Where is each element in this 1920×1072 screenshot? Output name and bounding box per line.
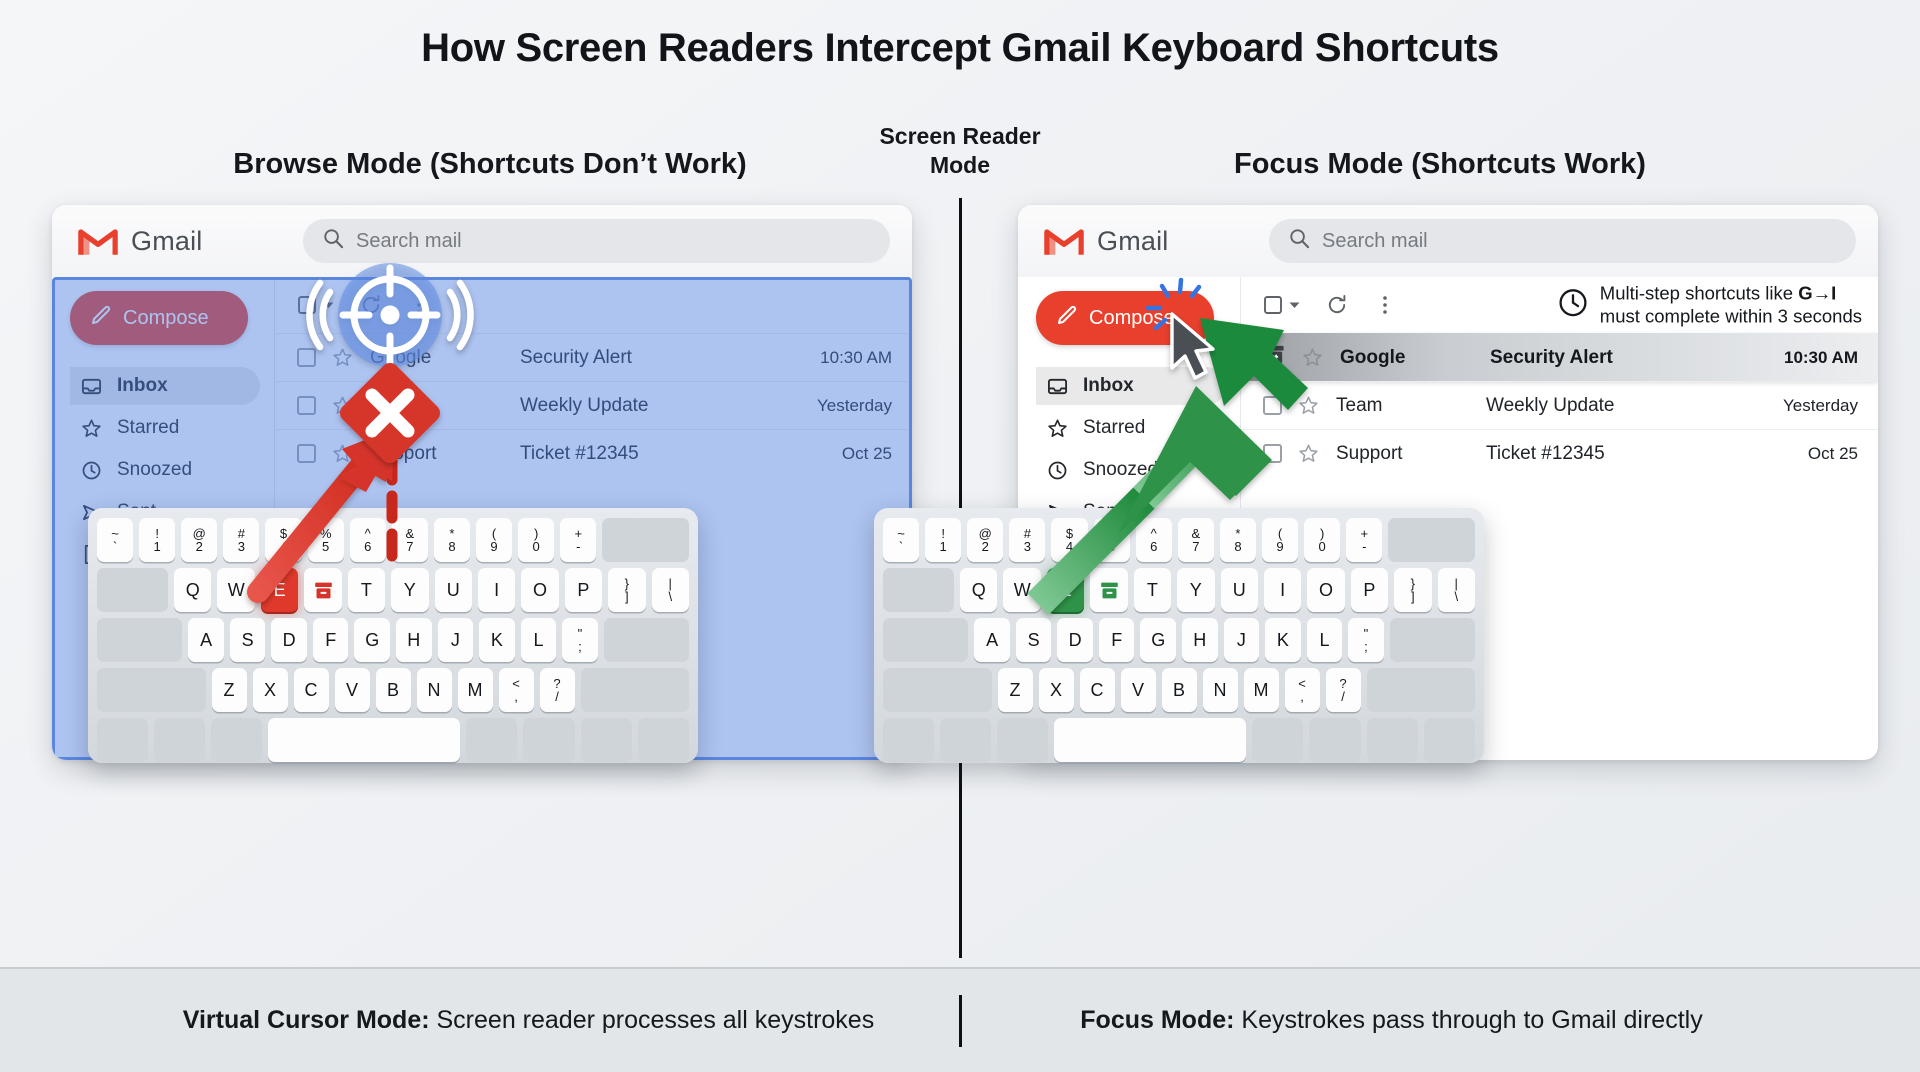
- key-z[interactable]: Z: [212, 668, 247, 712]
- key-0[interactable]: )0: [518, 518, 554, 562]
- search-input-right[interactable]: Search mail: [1269, 219, 1856, 263]
- refresh-icon[interactable]: [1326, 294, 1348, 316]
- key-j[interactable]: J: [438, 618, 474, 662]
- key-4[interactable]: $4: [1051, 518, 1087, 562]
- search-input-left[interactable]: Search mail: [303, 219, 890, 263]
- inbox-icon: [1047, 376, 1068, 397]
- key-c[interactable]: C: [1080, 668, 1115, 712]
- select-all-checkbox-left[interactable]: [297, 295, 334, 315]
- multi-step-shortcut-tooltip: Multi-step shortcuts like G→I must compl…: [1558, 282, 1862, 329]
- key-t[interactable]: T: [1134, 568, 1171, 612]
- star-icon[interactable]: [1298, 443, 1319, 464]
- star-icon: [1047, 418, 1068, 439]
- key-l[interactable]: L: [521, 618, 557, 662]
- row-checkbox[interactable]: [297, 396, 316, 415]
- key-5[interactable]: %5: [1094, 518, 1130, 562]
- table-row[interactable]: Google Security Alert 10:30 AM: [1241, 333, 1878, 381]
- key-shift-right[interactable]: [1367, 668, 1476, 712]
- gmail-logo-left: Gmail: [78, 226, 303, 257]
- center-mode-line1: Screen Reader: [830, 122, 1090, 151]
- key-o[interactable]: O: [521, 568, 558, 612]
- more-options-icon[interactable]: [1374, 294, 1396, 316]
- sidebar-label: Snoozed: [117, 459, 192, 481]
- key-capslock[interactable]: [883, 618, 968, 662]
- sidebar-item-starred-left[interactable]: Starred: [70, 409, 260, 447]
- more-options-icon[interactable]: [408, 294, 430, 316]
- key-q[interactable]: Q: [960, 568, 997, 612]
- key-slash[interactable]: ?/: [1326, 668, 1361, 712]
- key-comma[interactable]: <,: [1285, 668, 1320, 712]
- key-c[interactable]: C: [294, 668, 329, 712]
- key-n[interactable]: N: [1203, 668, 1238, 712]
- search-placeholder-left: Search mail: [356, 230, 462, 253]
- table-row[interactable]: Google Security Alert 10:30 AM: [275, 333, 912, 381]
- chevron-down-icon: [323, 301, 334, 310]
- key-semicolon[interactable]: ";: [562, 618, 598, 662]
- key-e-highlighted[interactable]: E: [1047, 568, 1084, 612]
- key-shift-left[interactable]: [97, 668, 206, 712]
- row-sender: Support: [1336, 443, 1486, 465]
- key-g[interactable]: G: [1140, 618, 1176, 662]
- sidebar-item-starred-right[interactable]: Starred: [1036, 409, 1226, 447]
- keyboard-row-home: A S D F G H J K L ";: [883, 618, 1475, 662]
- key-cmd-right[interactable]: [466, 718, 517, 762]
- key-9[interactable]: (9: [1262, 518, 1298, 562]
- row-subject: Weekly Update: [1486, 395, 1783, 417]
- row-time: 10:30 AM: [820, 348, 892, 368]
- key-3[interactable]: #3: [1009, 518, 1045, 562]
- pencil-icon: [1056, 304, 1078, 332]
- key-d[interactable]: D: [1057, 618, 1093, 662]
- keyboard-row-bottom: Z X C V B N M <, ?/: [97, 668, 689, 712]
- page-title: How Screen Readers Intercept Gmail Keybo…: [0, 26, 1920, 71]
- star-icon: [81, 418, 102, 439]
- key-option-right[interactable]: [1309, 718, 1360, 762]
- keyboard-row-qwerty: Q W E T Y U I O P }] |\: [883, 568, 1475, 612]
- key-r-archive-icon[interactable]: [1090, 568, 1127, 612]
- key-shift-right[interactable]: [581, 668, 690, 712]
- key-e-highlighted[interactable]: E: [261, 568, 298, 612]
- star-icon[interactable]: [1298, 395, 1319, 416]
- key-u[interactable]: U: [435, 568, 472, 612]
- footer-left-text: Screen reader processes all keystrokes: [430, 1006, 875, 1034]
- key-tilde[interactable]: ~`: [97, 518, 133, 562]
- key-bracket-right[interactable]: }]: [1394, 568, 1431, 612]
- row-subject: Ticket #12345: [520, 443, 842, 465]
- key-arrows[interactable]: [638, 718, 689, 762]
- key-minus[interactable]: +-: [560, 518, 596, 562]
- row-sender: Team: [370, 395, 520, 417]
- key-enter[interactable]: [604, 618, 689, 662]
- keyboard-row-bottom: Z X C V B N M <, ?/: [883, 668, 1475, 712]
- footer-captions: Virtual Cursor Mode: Screen reader proce…: [0, 967, 1920, 1072]
- row-subject: Weekly Update: [520, 395, 817, 417]
- key-2[interactable]: @2: [181, 518, 217, 562]
- key-semicolon[interactable]: ";: [1348, 618, 1384, 662]
- star-icon[interactable]: [1302, 347, 1323, 368]
- key-comma[interactable]: <,: [499, 668, 534, 712]
- gmail-header-left: Gmail Search mail: [52, 205, 912, 277]
- center-mode-line2: Mode: [830, 151, 1090, 180]
- row-checkbox[interactable]: [297, 348, 316, 367]
- sidebar-label: Starred: [1083, 417, 1145, 439]
- row-sender: Team: [1336, 395, 1486, 417]
- key-cmd-right[interactable]: [1252, 718, 1303, 762]
- key-0[interactable]: )0: [1304, 518, 1340, 562]
- key-capslock[interactable]: [97, 618, 182, 662]
- key-arrows[interactable]: [1424, 718, 1475, 762]
- key-l[interactable]: L: [1307, 618, 1343, 662]
- row-time: Yesterday: [817, 396, 892, 416]
- chevron-down-icon: [1289, 301, 1300, 310]
- key-fn[interactable]: [1367, 718, 1418, 762]
- row-subject: Security Alert: [520, 347, 820, 369]
- key-p[interactable]: P: [1351, 568, 1388, 612]
- search-icon: [1289, 228, 1310, 254]
- key-7[interactable]: &7: [392, 518, 428, 562]
- gmail-m-icon: [78, 226, 118, 256]
- key-m[interactable]: M: [1244, 668, 1279, 712]
- sidebar-label: Starred: [117, 417, 179, 439]
- key-minus[interactable]: +-: [1346, 518, 1382, 562]
- inbox-icon: [81, 376, 102, 397]
- key-enter[interactable]: [1390, 618, 1475, 662]
- row-subject: Ticket #12345: [1486, 443, 1808, 465]
- archive-icon[interactable]: [1263, 343, 1286, 372]
- sidebar-item-snoozed-right[interactable]: Snoozed: [1036, 451, 1226, 489]
- key-j[interactable]: J: [1224, 618, 1260, 662]
- table-row[interactable]: Team Weekly Update Yesterday: [275, 381, 912, 429]
- tooltip-shortcut-key: G→I: [1798, 283, 1836, 304]
- key-7[interactable]: &7: [1178, 518, 1214, 562]
- footer-caption-left: Virtual Cursor Mode: Screen reader proce…: [99, 1006, 959, 1035]
- key-tab[interactable]: [97, 568, 168, 612]
- key-a[interactable]: A: [188, 618, 224, 662]
- compose-button-left[interactable]: Compose: [70, 291, 248, 345]
- key-cmd-left[interactable]: [211, 718, 262, 762]
- tooltip-line1-pre: Multi-step shortcuts like: [1600, 283, 1798, 304]
- gmail-wordmark-right: Gmail: [1097, 226, 1169, 257]
- sidebar-item-inbox-right[interactable]: Inbox: [1036, 367, 1226, 405]
- key-o[interactable]: O: [1307, 568, 1344, 612]
- gmail-m-icon: [1044, 226, 1084, 256]
- row-checkbox[interactable]: [1263, 444, 1282, 463]
- mail-toolbar-left: [275, 277, 912, 333]
- key-backspace[interactable]: [1388, 518, 1475, 562]
- key-5[interactable]: %5: [308, 518, 344, 562]
- gmail-logo-right: Gmail: [1044, 226, 1269, 257]
- tooltip-text: Multi-step shortcuts like G→I must compl…: [1600, 282, 1862, 329]
- row-sender: Support: [370, 443, 520, 465]
- key-h[interactable]: H: [396, 618, 432, 662]
- keyboard-row-space: [97, 718, 689, 762]
- key-option-left[interactable]: [940, 718, 991, 762]
- footer-left-bold: Virtual Cursor Mode:: [183, 1006, 430, 1034]
- key-y[interactable]: Y: [1177, 568, 1214, 612]
- keyboard-row-numbers: ~` !1 @2 #3 $4 %5 ^6 &7 *8 (9 )0 +-: [97, 518, 689, 562]
- sidebar-label: Snoozed: [1083, 459, 1158, 481]
- key-u[interactable]: U: [1221, 568, 1258, 612]
- archive-icon: [1099, 580, 1120, 601]
- key-g[interactable]: G: [354, 618, 390, 662]
- tooltip-line2: must complete within 3 seconds: [1600, 306, 1862, 327]
- keyboard-row-home: A S D F G H J K L ";: [97, 618, 689, 662]
- search-icon: [323, 228, 344, 254]
- row-time: 10:30 AM: [1784, 348, 1858, 368]
- row-checkbox[interactable]: [297, 444, 316, 463]
- key-b[interactable]: B: [1162, 668, 1197, 712]
- mail-toolbar-right: Multi-step shortcuts like G→I must compl…: [1241, 277, 1878, 333]
- table-row[interactable]: Team Weekly Update Yesterday: [1241, 381, 1878, 429]
- key-v[interactable]: V: [1121, 668, 1156, 712]
- key-8[interactable]: *8: [434, 518, 470, 562]
- table-row[interactable]: Support Ticket #12345 Oct 25: [1241, 429, 1878, 477]
- key-space[interactable]: [1054, 718, 1246, 762]
- left-panel-heading: Browse Mode (Shortcuts Don’t Work): [60, 148, 920, 181]
- key-k[interactable]: K: [479, 618, 515, 662]
- clock-icon: [1047, 460, 1068, 481]
- key-ctrl-left[interactable]: [97, 718, 148, 762]
- right-panel-heading: Focus Mode (Shortcuts Work): [1010, 148, 1870, 181]
- key-s[interactable]: S: [230, 618, 266, 662]
- key-s[interactable]: S: [1016, 618, 1052, 662]
- key-i[interactable]: I: [1264, 568, 1301, 612]
- key-z[interactable]: Z: [998, 668, 1033, 712]
- key-ctrl-left[interactable]: [883, 718, 934, 762]
- sidebar-item-inbox-left[interactable]: Inbox: [70, 367, 260, 405]
- key-cmd-left[interactable]: [997, 718, 1048, 762]
- key-t[interactable]: T: [348, 568, 385, 612]
- key-w[interactable]: W: [217, 568, 254, 612]
- row-subject: Security Alert: [1490, 347, 1784, 369]
- key-y[interactable]: Y: [391, 568, 428, 612]
- keyboard-row-space: [883, 718, 1475, 762]
- center-mode-label: Screen Reader Mode: [830, 122, 1090, 181]
- key-f[interactable]: F: [1099, 618, 1135, 662]
- key-option-right[interactable]: [523, 718, 574, 762]
- key-v[interactable]: V: [335, 668, 370, 712]
- key-d[interactable]: D: [271, 618, 307, 662]
- row-sender: Google: [370, 347, 520, 369]
- key-9[interactable]: (9: [476, 518, 512, 562]
- key-f[interactable]: F: [313, 618, 349, 662]
- search-placeholder-right: Search mail: [1322, 230, 1428, 253]
- key-option-left[interactable]: [154, 718, 205, 762]
- key-a[interactable]: A: [974, 618, 1010, 662]
- pencil-icon: [90, 304, 112, 332]
- key-p[interactable]: P: [565, 568, 602, 612]
- key-x[interactable]: X: [1039, 668, 1074, 712]
- key-i[interactable]: I: [478, 568, 515, 612]
- keyboard-focus-mode[interactable]: ~` !1 @2 #3 $4 %5 ^6 &7 *8 (9 )0 +- Q W …: [874, 508, 1484, 763]
- key-4[interactable]: $4: [265, 518, 301, 562]
- compose-label-right: Compose: [1089, 307, 1175, 330]
- star-icon[interactable]: [332, 443, 353, 464]
- key-h[interactable]: H: [1182, 618, 1218, 662]
- key-backslash[interactable]: |\: [652, 568, 689, 612]
- key-x[interactable]: X: [253, 668, 288, 712]
- key-m[interactable]: M: [458, 668, 493, 712]
- select-all-checkbox-right[interactable]: [1263, 295, 1300, 315]
- key-slash[interactable]: ?/: [540, 668, 575, 712]
- archive-icon: [313, 580, 334, 601]
- key-1[interactable]: !1: [139, 518, 175, 562]
- infographic-canvas: How Screen Readers Intercept Gmail Keybo…: [0, 0, 1920, 1072]
- key-8[interactable]: *8: [1220, 518, 1256, 562]
- star-icon[interactable]: [332, 395, 353, 416]
- key-space[interactable]: [268, 718, 460, 762]
- footer-right-bold: Focus Mode:: [1080, 1006, 1234, 1034]
- key-6[interactable]: ^6: [1136, 518, 1172, 562]
- key-q[interactable]: Q: [174, 568, 211, 612]
- key-r-archive-icon[interactable]: [304, 568, 341, 612]
- row-sender: Google: [1340, 347, 1490, 369]
- row-time: Yesterday: [1783, 396, 1858, 416]
- key-1[interactable]: !1: [925, 518, 961, 562]
- key-k[interactable]: K: [1265, 618, 1301, 662]
- compose-button-right[interactable]: Compose: [1036, 291, 1214, 345]
- key-tilde[interactable]: ~`: [883, 518, 919, 562]
- sidebar-item-snoozed-left[interactable]: Snoozed: [70, 451, 260, 489]
- gmail-wordmark-left: Gmail: [131, 226, 203, 257]
- sidebar-label: Inbox: [117, 375, 168, 397]
- key-6[interactable]: ^6: [350, 518, 386, 562]
- key-n[interactable]: N: [417, 668, 452, 712]
- compose-label-left: Compose: [123, 307, 209, 330]
- key-bracket-right[interactable]: }]: [608, 568, 645, 612]
- key-w[interactable]: W: [1003, 568, 1040, 612]
- key-3[interactable]: #3: [223, 518, 259, 562]
- key-2[interactable]: @2: [967, 518, 1003, 562]
- table-row[interactable]: Support Ticket #12345 Oct 25: [275, 429, 912, 477]
- footer-right-text: Keystrokes pass through to Gmail directl…: [1234, 1006, 1702, 1034]
- keyboard-row-numbers: ~` !1 @2 #3 $4 %5 ^6 &7 *8 (9 )0 +-: [883, 518, 1475, 562]
- key-fn[interactable]: [581, 718, 632, 762]
- sidebar-label: Inbox: [1083, 375, 1134, 397]
- key-b[interactable]: B: [376, 668, 411, 712]
- key-backslash[interactable]: |\: [1438, 568, 1475, 612]
- row-time: Oct 25: [842, 444, 892, 464]
- refresh-icon[interactable]: [360, 294, 382, 316]
- clock-icon: [1558, 288, 1588, 323]
- row-time: Oct 25: [1808, 444, 1858, 464]
- key-shift-left[interactable]: [883, 668, 992, 712]
- keyboard-row-qwerty: Q W E T Y U I O P }] |\: [97, 568, 689, 612]
- row-checkbox[interactable]: [1263, 396, 1282, 415]
- tooltip-line1: Multi-step shortcuts like G→I: [1600, 283, 1836, 304]
- footer-caption-right: Focus Mode: Keystrokes pass through to G…: [962, 1006, 1822, 1035]
- key-backspace[interactable]: [602, 518, 689, 562]
- clock-icon: [81, 460, 102, 481]
- star-icon[interactable]: [332, 347, 353, 368]
- gmail-header-right: Gmail Search mail: [1018, 205, 1878, 277]
- key-tab[interactable]: [883, 568, 954, 612]
- keyboard-browse-mode[interactable]: ~` !1 @2 #3 $4 %5 ^6 &7 *8 (9 )0 +- Q W …: [88, 508, 698, 763]
